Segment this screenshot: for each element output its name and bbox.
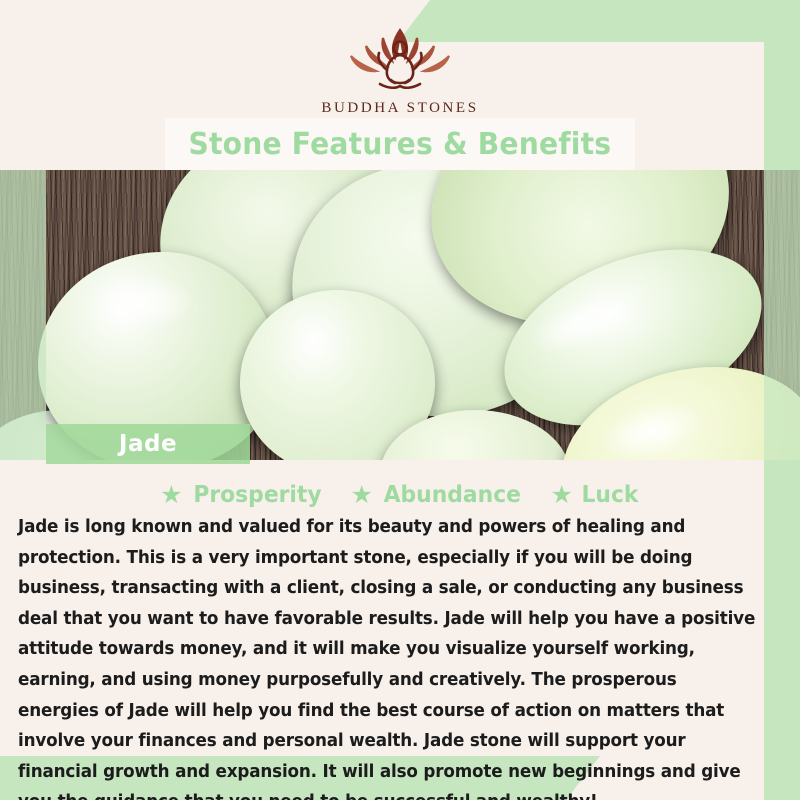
brand-logo: BUDDHA STONES	[0, 22, 800, 117]
benefit-label: Luck	[581, 482, 638, 508]
page-title: Stone Features & Benefits	[189, 127, 612, 162]
infographic-card: BUDDHA STONES Stone Features & Benefits …	[0, 0, 800, 800]
benefits-row: ★ Prosperity ★ Abundance ★ Luck	[0, 478, 800, 512]
stone-name-label: Jade	[119, 431, 177, 457]
benefit-item-prosperity: ★ Prosperity	[160, 482, 324, 508]
star-icon: ★	[350, 483, 372, 508]
title-banner: Stone Features & Benefits	[165, 118, 635, 170]
photo-right-green-overlay	[764, 170, 800, 460]
benefit-item-luck: ★ Luck	[551, 482, 640, 508]
lotus-meditation-icon	[335, 22, 465, 94]
stone-photo	[0, 170, 800, 460]
description-text: Jade is long known and valued for its be…	[18, 512, 759, 800]
description-block: Jade is long known and valued for its be…	[18, 512, 786, 800]
stone-name-banner: Jade	[46, 424, 250, 464]
benefit-label: Prosperity	[193, 482, 321, 508]
star-icon: ★	[160, 483, 182, 508]
photo-left-green-overlay	[0, 170, 46, 460]
benefit-label: Abundance	[384, 482, 521, 508]
brand-name: BUDDHA STONES	[321, 100, 478, 117]
star-icon: ★	[551, 483, 573, 508]
benefit-item-abundance: ★ Abundance	[350, 482, 524, 508]
